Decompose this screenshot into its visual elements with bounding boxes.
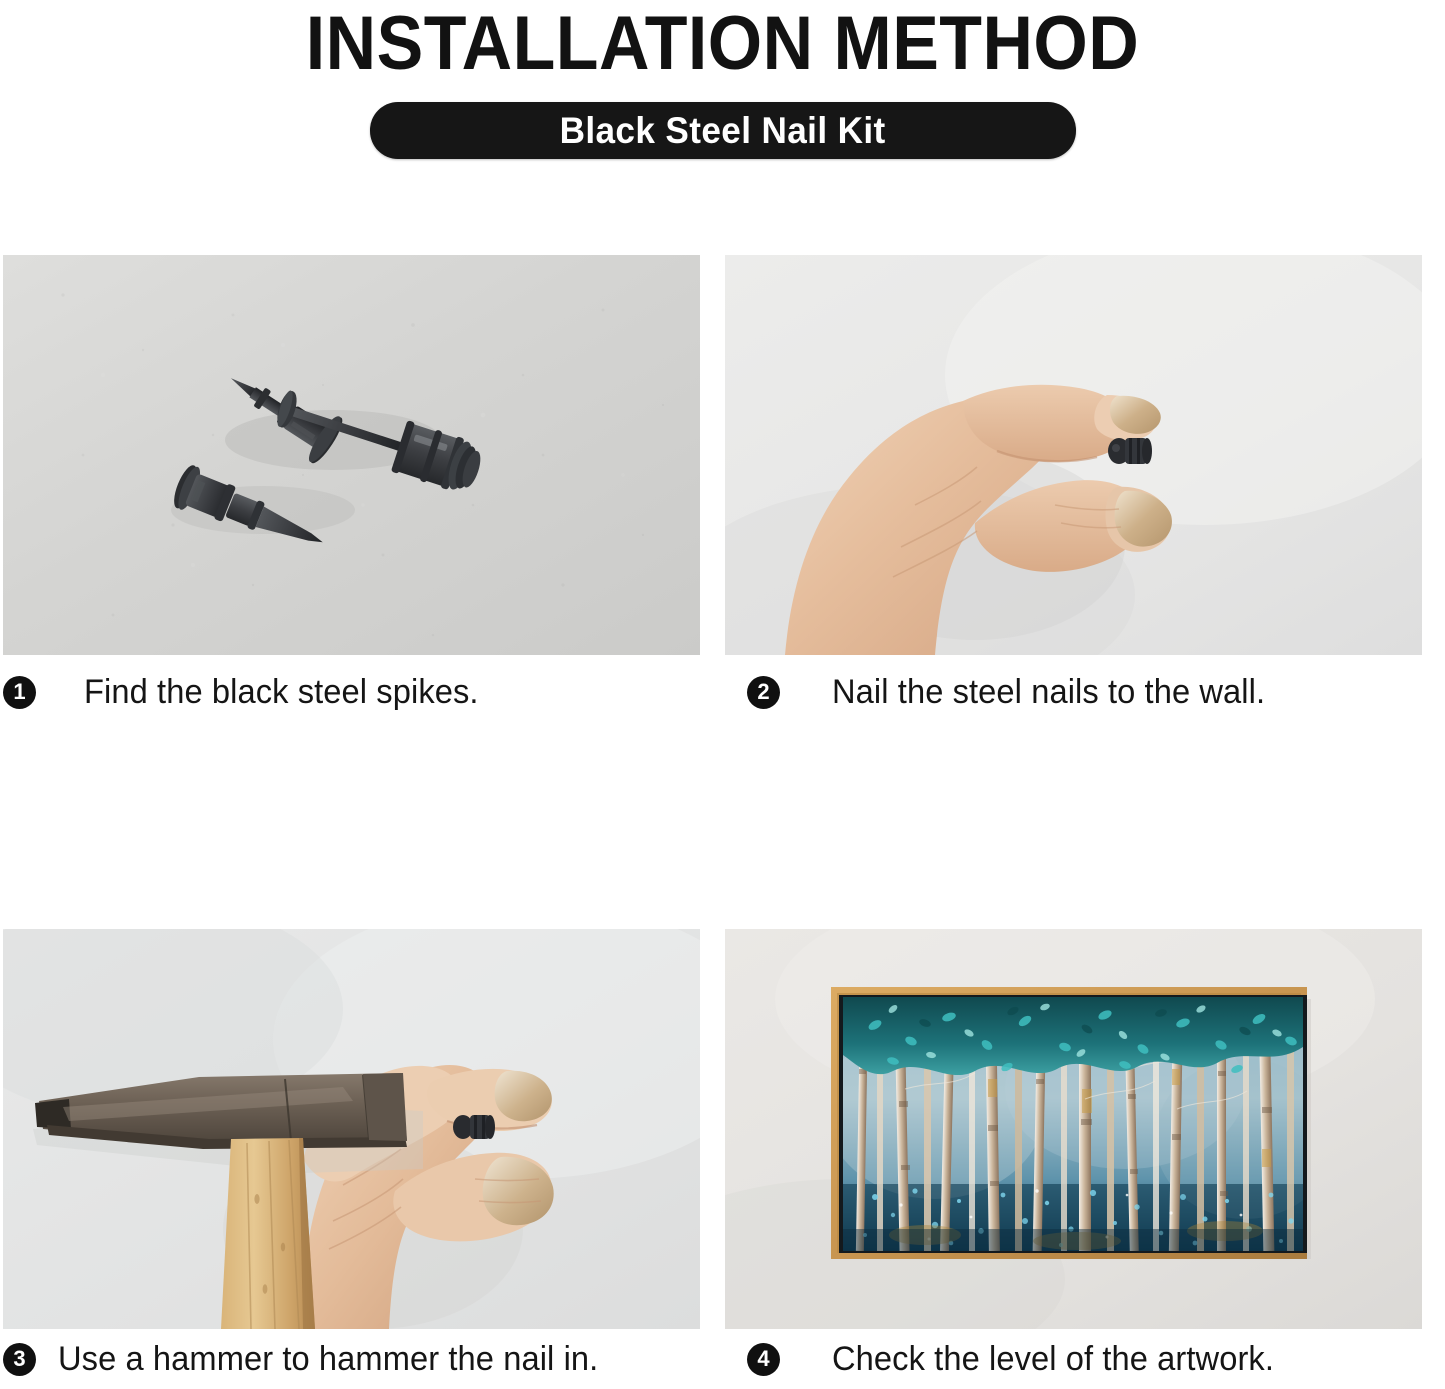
badge-wrap: Black Steel Nail Kit xyxy=(0,102,1445,159)
steps-grid: 1 Find the black steel spikes. xyxy=(0,255,1445,1389)
step-number-badge: 2 xyxy=(747,676,780,709)
header: INSTALLATION METHOD Black Steel Nail Kit xyxy=(0,0,1445,159)
step-number-badge: 1 xyxy=(3,676,36,709)
step-caption: Nail the steel nails to the wall. xyxy=(832,673,1265,712)
step-caption: Check the level of the artwork. xyxy=(832,1340,1274,1379)
hand-holding-nail-photo xyxy=(725,255,1422,655)
hammer-striking-nail-photo xyxy=(3,929,700,1329)
badge-label: Black Steel Nail Kit xyxy=(559,110,885,152)
step-row-1: 1 Find the black steel spikes. xyxy=(0,255,1445,729)
step-4-caption-row: 4 Check the level of the artwork. xyxy=(725,1329,1444,1389)
page-title: INSTALLATION METHOD xyxy=(58,0,1387,86)
step-3: 3 Use a hammer to hammer the nail in. xyxy=(0,929,722,1389)
step-3-caption-row: 3 Use a hammer to hammer the nail in. xyxy=(3,1329,700,1389)
step-number-badge: 3 xyxy=(3,1343,36,1376)
black-steel-spikes-photo xyxy=(3,255,700,655)
step-4: 4 Check the level of the artwork. xyxy=(722,929,1444,1389)
product-name-badge: Black Steel Nail Kit xyxy=(370,102,1076,159)
step-caption: Use a hammer to hammer the nail in. xyxy=(58,1340,598,1379)
step-1: 1 Find the black steel spikes. xyxy=(0,255,722,729)
step-row-2: 3 Use a hammer to hammer the nail in. xyxy=(0,929,1445,1389)
framed-artwork-on-wall-photo xyxy=(725,929,1422,1329)
step-caption: Find the black steel spikes. xyxy=(84,673,479,712)
step-number-badge: 4 xyxy=(747,1343,780,1376)
step-2: 2 Nail the steel nails to the wall. xyxy=(722,255,1444,729)
step-1-caption-row: 1 Find the black steel spikes. xyxy=(3,655,700,729)
step-2-caption-row: 2 Nail the steel nails to the wall. xyxy=(725,655,1444,729)
